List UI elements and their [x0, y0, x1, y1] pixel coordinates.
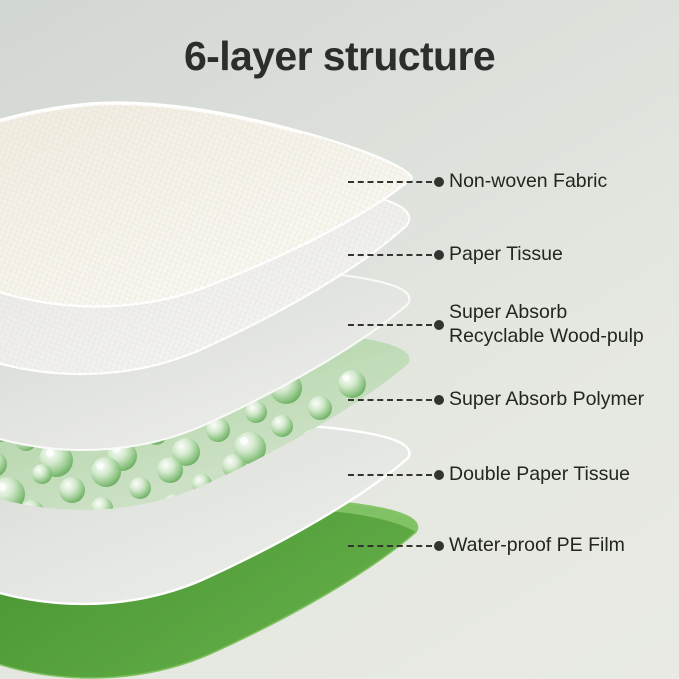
callout-label: Double Paper Tissue	[449, 462, 630, 486]
leader-dot	[434, 177, 444, 187]
leader-line	[348, 324, 432, 326]
callout-label: Non-woven Fabric	[449, 169, 607, 193]
callout-label-line-2: Recyclable Wood-pulp	[449, 324, 644, 348]
leader-dot	[434, 395, 444, 405]
callout-label-line-1: Super Absorb	[449, 300, 567, 324]
leader-line	[348, 399, 432, 401]
callout-label: Paper Tissue	[449, 242, 563, 266]
leader-line	[348, 545, 432, 547]
leader-dot	[434, 320, 444, 330]
leader-dot	[434, 250, 444, 260]
leader-line	[348, 181, 432, 183]
layer-graphic-non-woven-fabric	[0, 82, 470, 332]
leader-line	[348, 474, 432, 476]
leader-dot	[434, 541, 444, 551]
layer-structure-infographic: 6-layer structure	[0, 0, 679, 679]
leader-line	[348, 254, 432, 256]
page-title: 6-layer structure	[0, 33, 679, 80]
callout-label: Water-proof PE Film	[449, 533, 625, 557]
callout-label: Super Absorb Polymer	[449, 387, 644, 411]
leader-dot	[434, 470, 444, 480]
